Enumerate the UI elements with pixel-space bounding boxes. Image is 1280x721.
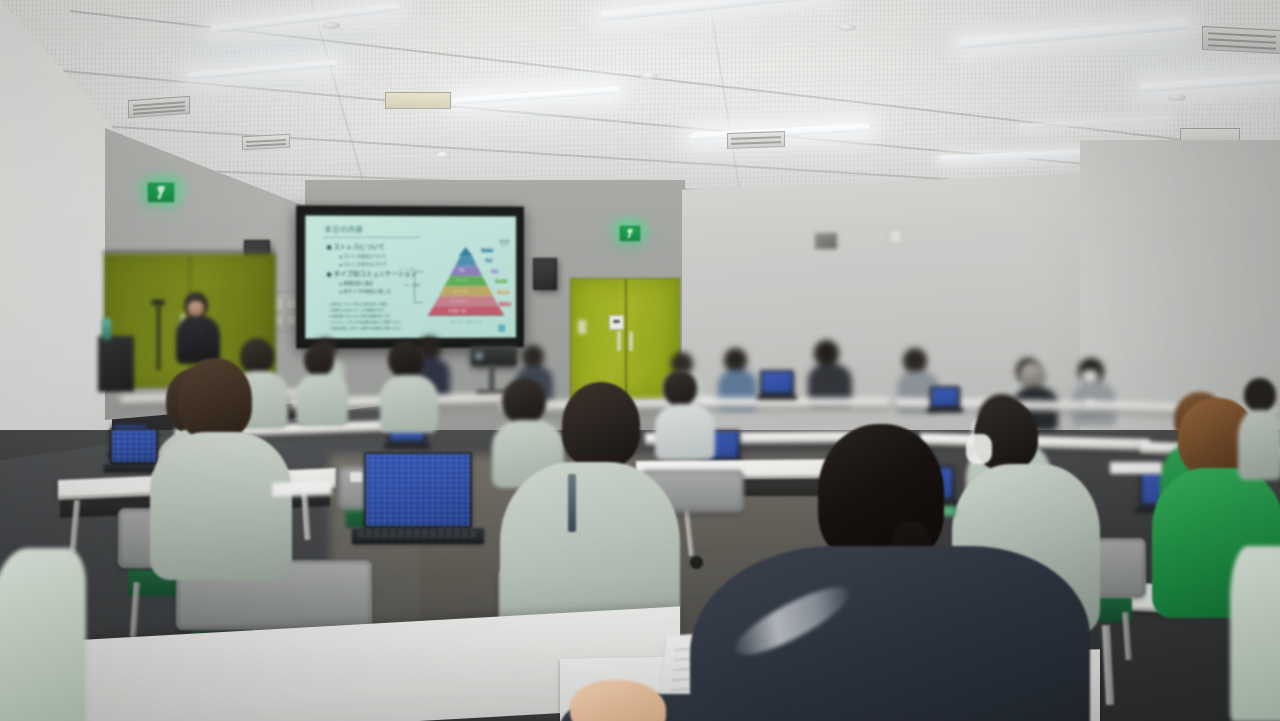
pyramid-tag-1: 認知 [486,258,493,262]
pyramid-tag-3: 身体反応 [496,279,508,283]
table-caster [690,556,703,569]
smoke-detector [322,22,340,29]
projection-screen: 本日の内容 ■ ストレスについて ◆ ストレス反応について ◆ ストレスのセルフ… [296,205,524,348]
wall-outlet [889,229,902,244]
slide-logo [499,325,506,332]
ceiling-ac-vent [242,134,290,151]
worksheet[interactable] [272,481,332,497]
slide-bullet-1: ■ ストレスについて [327,242,385,251]
lectern [98,336,134,392]
smoke-detector [640,72,658,79]
ceiling-ac-vent [385,92,451,109]
mic-stand-head [151,300,165,305]
exit-sign-left [148,183,174,202]
slide-footnote: ➤ 使用するのみのスライドが複数あります [329,308,384,312]
pyramid-tag-4: 行動変化 [498,290,510,294]
pyramid-cap-sublabel: (ケア) [500,243,507,247]
smoke-detector [838,24,856,31]
slide-footnote: ➤ 数字はイラストや中心に要点を絞って解説 [329,302,387,306]
smoke-detector [436,152,450,158]
pyramid-inner-label: ストレス [456,278,466,282]
exit-sign-right [620,226,640,241]
slide-footnote: ➤ オフラインに示しの方は保管を兼ねてご参照ください [329,320,402,324]
pyramid-layer-1 [455,256,477,266]
door-sign [609,315,624,330]
slide-bullet-3: ◆ ストレスのセルフケア [339,262,386,268]
projector-lens [474,351,484,361]
pyramid-layer-apex [459,247,473,256]
handheld-microphone [196,324,201,336]
slide-footnote: ➤ 休憩は適宜入れます。質問の方は随時ご質問ください [329,326,401,330]
slide-title: 本日の内容 [325,224,364,234]
pyramid-tag-5: 生活基盤 [500,302,512,306]
running-man-icon [625,229,635,238]
stress-pyramid-diagram: 対処支援 (ケア) 対処行動 認知 感情 身体反応 行動変化 生活基盤 感情 ス… [426,245,505,323]
pyramid-inner-label: 感情 [459,268,464,272]
worksheet[interactable] [1110,462,1162,474]
projector [471,346,517,366]
pyramid-layer-2 [450,266,483,276]
projector-stand [489,366,494,392]
ceiling-ac-vent [727,131,785,149]
slide-canvas: 本日の内容 ■ ストレスについて ◆ ストレス反応について ◆ ストレスのセルフ… [305,216,516,339]
pyramid-inner-label: 生活基盤・環境 [448,309,466,313]
sanitizer-bottle [102,318,111,340]
presenter-face [188,301,204,316]
pyramid-inner-label: ライフイベント [450,299,468,303]
usb-dongle [350,472,362,482]
mic-stand [157,304,160,370]
table [700,398,890,408]
running-man-icon [154,186,167,198]
smoke-detector [1168,94,1186,101]
lanyard [568,474,576,532]
training-room-photo: 本日の内容 ■ ストレスについて ◆ ストレス反応について ◆ ストレスのセルフ… [0,0,1280,721]
slide-title-rule [322,237,419,238]
pyramid-axis-bottom: ストレス反応 [404,283,420,287]
slide-footnote: ➤ 質問項目で皆さんのご意見や感想を伺います [329,314,390,318]
ceiling-ac-vent [1202,26,1280,54]
slide-bullet-6: ◆ 各タイプの特長と接し方 [339,289,391,295]
slide-bullet-5: ◆ 質問回答と集計 [339,281,373,287]
wall-bracket [815,233,837,249]
pyramid-axis-top: ストレッサー [400,267,416,271]
pyramid-tag-2: 感情 [492,269,499,273]
wall-speaker-right [533,258,557,290]
pyramid-baseline [428,315,504,316]
pyramid-inner-label: ストレッサー [453,289,468,293]
pyramid-tag-0: 対処行動 [482,248,494,252]
pyramid-caption: ストレス・ピラミッド [450,320,482,324]
door-label [578,320,586,334]
slide-bullet-2: ◆ ストレス反応について [339,254,386,260]
laptop-keyboard[interactable] [358,530,476,538]
